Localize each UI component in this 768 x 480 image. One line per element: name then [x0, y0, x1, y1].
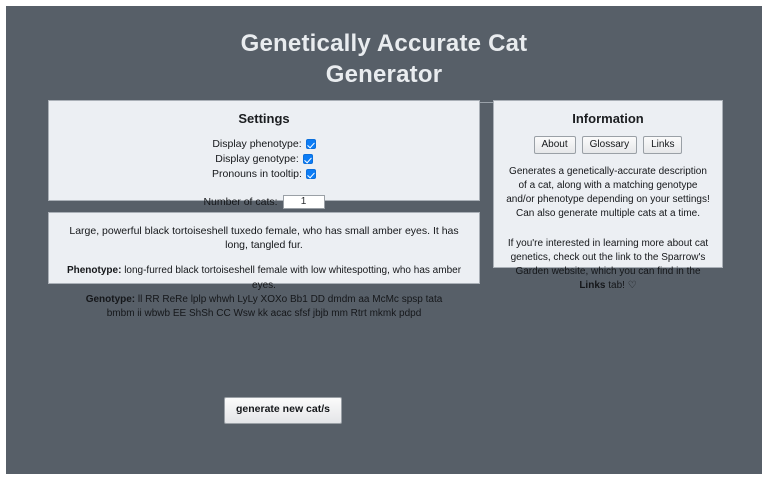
information-paragraph-2-before: If you're interested in learning more ab… [508, 238, 708, 277]
tab-about[interactable]: About [534, 136, 576, 154]
information-paragraph-2: If you're interested in learning more ab… [505, 237, 711, 293]
cat-description: Large, powerful black tortoiseshell tuxe… [59, 224, 469, 252]
information-tabs: About Glossary Links [494, 136, 722, 154]
information-paragraph-2-after: tab! ♡ [605, 280, 636, 291]
app-root: Genetically Accurate Cat Generator Setti… [6, 6, 762, 474]
information-panel: Information About Glossary Links Generat… [493, 100, 723, 268]
generate-new-cats-button[interactable]: generate new cat/s [224, 397, 342, 424]
phenotype-value: long-furred black tortoiseshell female w… [124, 265, 461, 290]
setting-row-display-phenotype[interactable]: Display phenotype: [49, 137, 479, 152]
phenotype-line: Phenotype: long-furred black tortoiseshe… [59, 264, 469, 292]
setting-row-display-genotype[interactable]: Display genotype: [49, 152, 479, 167]
information-paragraph-1: Generates a genetically-accurate descrip… [505, 165, 711, 221]
information-heading: Information [494, 111, 722, 126]
page-title: Genetically Accurate Cat Generator [219, 28, 549, 90]
tab-glossary[interactable]: Glossary [582, 136, 637, 154]
genotype-value: ll RR ReRe lplp whwh LyLy XOXo Bb1 DD dm… [107, 294, 443, 319]
number-of-cats-input[interactable] [283, 195, 325, 209]
genotype-line: Genotype: ll RR ReRe lplp whwh LyLy XOXo… [59, 293, 469, 321]
setting-row-pronouns-in-tooltip[interactable]: Pronouns in tooltip: [49, 167, 479, 182]
number-of-cats-row: Number of cats: [49, 195, 479, 209]
display-genotype-checkbox[interactable] [303, 154, 313, 164]
phenotype-label: Phenotype: [67, 265, 121, 276]
display-phenotype-checkbox[interactable] [306, 139, 316, 149]
settings-panel: Settings Display phenotype: Display geno… [48, 100, 480, 201]
cat-details: Phenotype: long-furred black tortoiseshe… [59, 264, 469, 321]
tab-links[interactable]: Links [643, 136, 682, 154]
settings-checkbox-list: Display phenotype: Display genotype: Pro… [49, 137, 479, 182]
result-panel: Large, powerful black tortoiseshell tuxe… [48, 212, 480, 284]
number-of-cats-label: Number of cats: [203, 196, 277, 208]
display-genotype-label: Display genotype: [215, 152, 298, 167]
pronouns-in-tooltip-checkbox[interactable] [306, 169, 316, 179]
display-phenotype-label: Display phenotype: [212, 137, 301, 152]
information-links-emphasis: Links [579, 280, 605, 291]
title-block: Genetically Accurate Cat Generator [6, 6, 762, 103]
settings-heading: Settings [49, 111, 479, 126]
pronouns-in-tooltip-label: Pronouns in tooltip: [212, 167, 302, 182]
genotype-label: Genotype: [86, 294, 135, 305]
